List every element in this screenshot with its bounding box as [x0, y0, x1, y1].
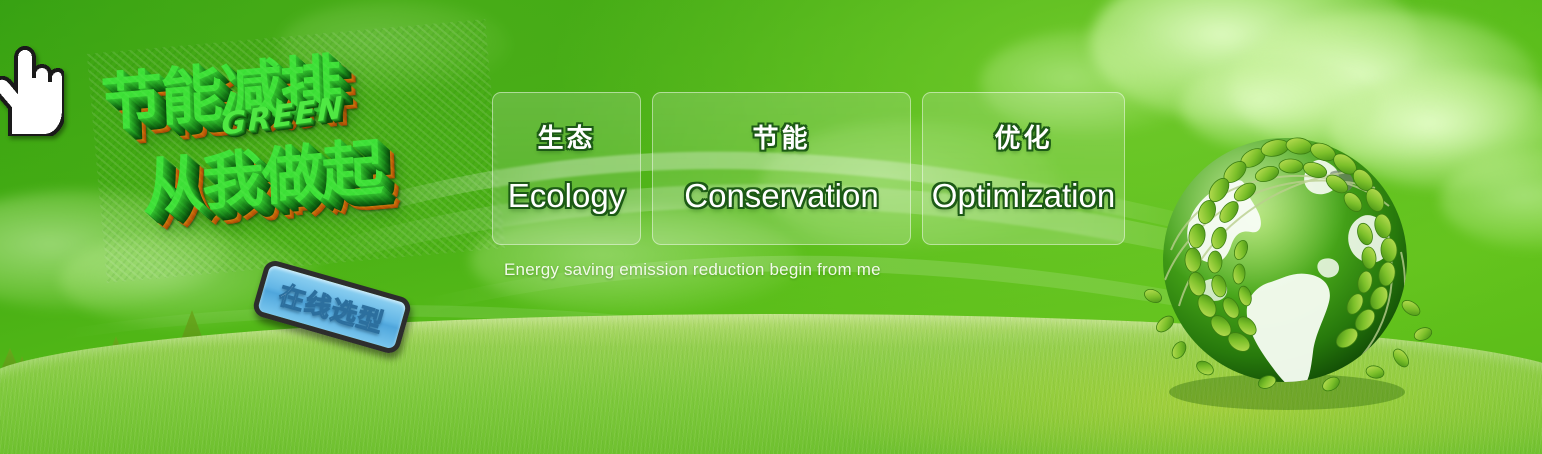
eco-promo-banner: 节能减排 GREEN 从我做起 在线选型 生态 Ecology 节能 Conse…: [0, 0, 1542, 454]
cloud-icon: [1440, 150, 1542, 250]
banner-tagline: Energy saving emission reduction begin f…: [504, 260, 881, 280]
feature-card-conservation[interactable]: 节能 Conservation: [652, 92, 911, 245]
feature-card-ecology[interactable]: 生态 Ecology: [492, 92, 641, 245]
feature-card-title-cn: 生态: [537, 118, 595, 155]
pointing-hand-cursor-icon: [0, 44, 64, 136]
leafy-earth-globe-icon: [1135, 110, 1435, 410]
feature-card-title-cn: 节能: [752, 118, 810, 155]
headline-3d-block: 节能减排 GREEN 从我做起: [87, 19, 506, 283]
feature-card-title-en: Conservation: [684, 177, 878, 215]
feature-card-title-cn: 优化: [994, 118, 1052, 155]
feature-card-title-en: Optimization: [932, 177, 1115, 215]
feature-card-optimization[interactable]: 优化 Optimization: [922, 92, 1125, 245]
feature-card-title-en: Ecology: [508, 177, 625, 215]
cloud-icon: [1090, 0, 1420, 125]
feature-card-list: 生态 Ecology 节能 Conservation 优化 Optimizati…: [492, 92, 1125, 245]
